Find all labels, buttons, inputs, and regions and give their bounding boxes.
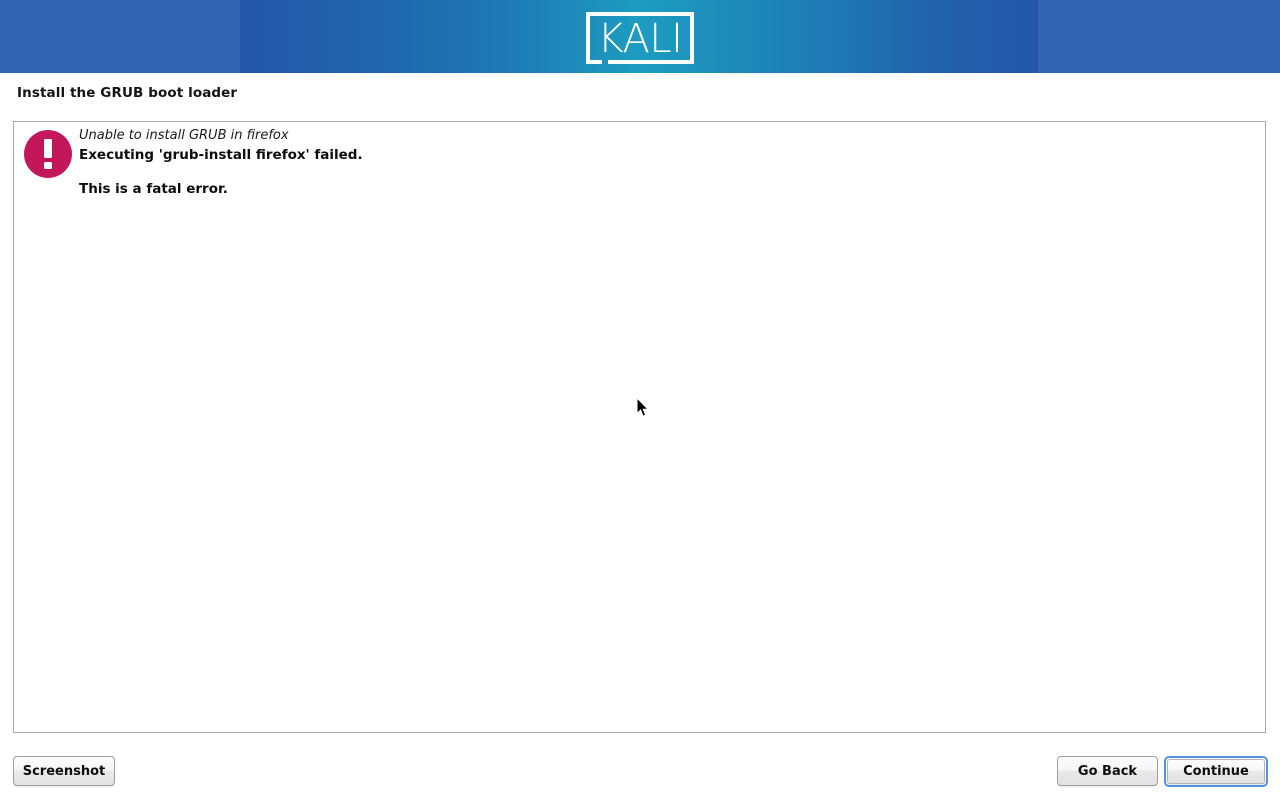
content-panel: Unable to install GRUB in firefox Execut…	[13, 121, 1266, 733]
page-title: Install the GRUB boot loader	[17, 85, 237, 101]
error-message: Executing 'grub-install firefox' failed.	[79, 146, 1179, 164]
go-back-button[interactable]: Go Back	[1057, 756, 1158, 786]
svg-text:KALI: KALI	[598, 16, 683, 62]
error-exclamation-icon	[23, 129, 73, 179]
continue-button-focus-ring: Continue	[1164, 756, 1268, 787]
error-fatal-note: This is a fatal error.	[79, 180, 1179, 198]
screenshot-button[interactable]: Screenshot	[13, 756, 115, 786]
kali-logo: KALI	[584, 10, 696, 66]
error-subtitle: Unable to install GRUB in firefox	[79, 127, 1179, 145]
header-banner: KALI	[0, 0, 1280, 73]
error-text-block: Unable to install GRUB in firefox Execut…	[79, 127, 1179, 198]
installer-screen: KALI Install the GRUB boot loader Unable…	[0, 0, 1280, 800]
continue-button[interactable]: Continue	[1167, 759, 1265, 784]
